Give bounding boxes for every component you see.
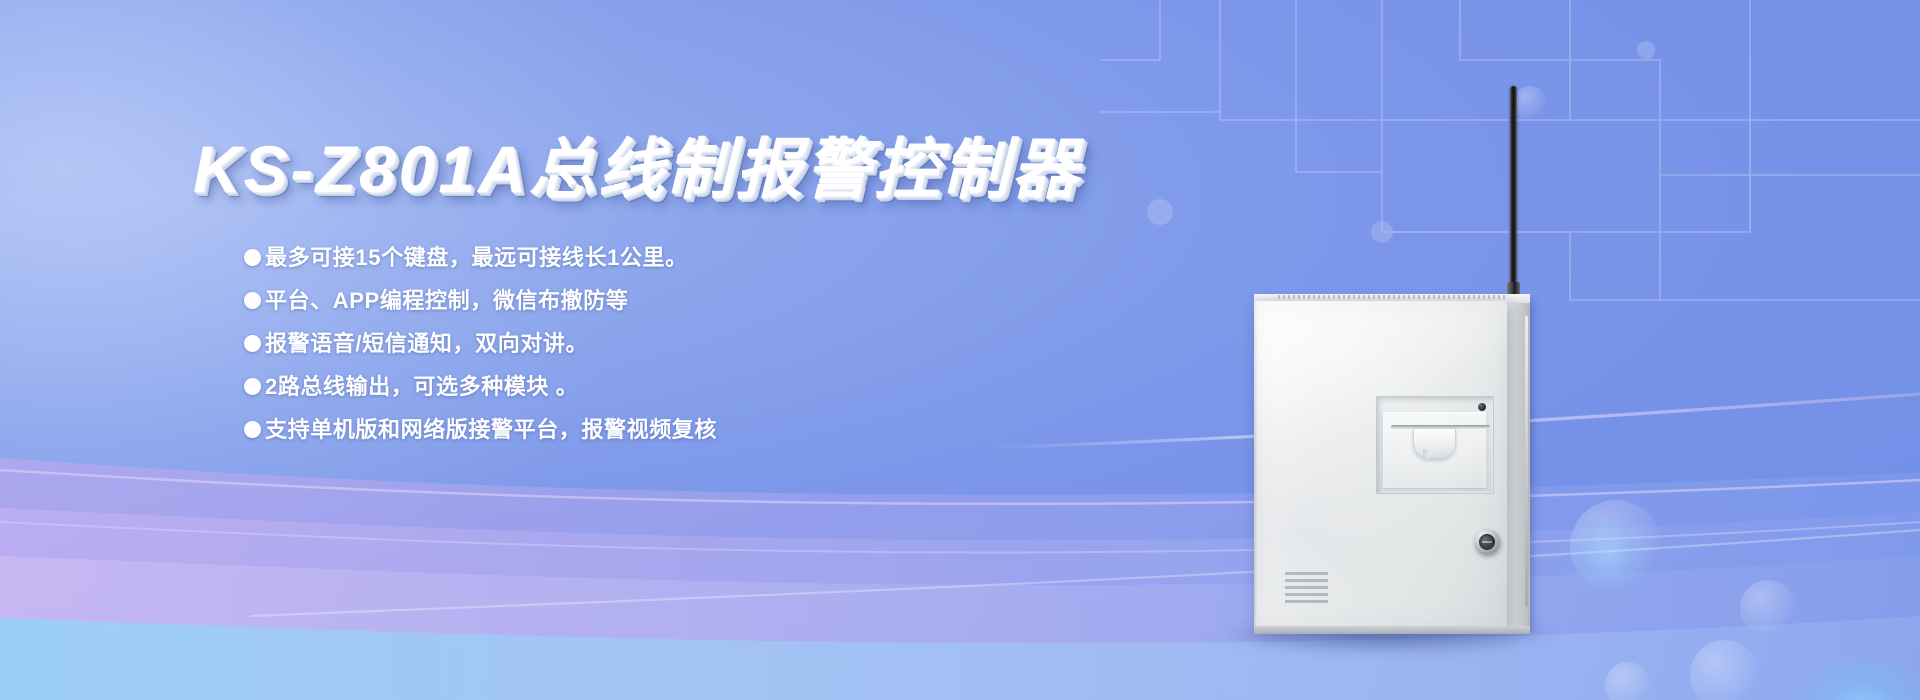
top-ventilation-slots	[1278, 295, 1508, 299]
antenna	[1510, 86, 1517, 308]
product-banner: KS-Z801A总线制报警控制器 最多可接15个键盘，最远可接线长1公里。 平台…	[0, 0, 1920, 700]
feature-text: 报警语音/短信通知，双向对讲。	[265, 322, 588, 365]
door-surface-sheen	[1254, 301, 1507, 630]
list-item: 平台、APP编程控制，微信布撤防等	[244, 279, 1064, 322]
list-item: 2路总线输出，可选多种模块 。	[244, 365, 1064, 408]
bullet-dot-icon	[244, 421, 261, 438]
bullet-dot-icon	[244, 249, 261, 266]
feature-list: 最多可接15个键盘，最远可接线长1公里。 平台、APP编程控制，微信布撤防等 报…	[244, 236, 1064, 451]
feature-text: 最多可接15个键盘，最远可接线长1公里。	[265, 236, 688, 279]
feature-text: 支持单机版和网络版接警平台，报警视频复核	[265, 408, 717, 451]
list-item: 支持单机版和网络版接警平台，报警视频复核	[244, 408, 1064, 451]
product-image	[1248, 86, 1668, 646]
feature-text: 2路总线输出，可选多种模块 。	[265, 365, 578, 408]
bullet-dot-icon	[244, 378, 261, 395]
enclosure-side-seam	[1525, 316, 1528, 606]
page-title: KS-Z801A总线制报警控制器	[193, 116, 1081, 212]
list-item: 最多可接15个键盘，最远可接线长1公里。	[244, 236, 1064, 279]
feature-text: 平台、APP编程控制，微信布撤防等	[265, 279, 628, 322]
bullet-dot-icon	[244, 335, 261, 352]
bullet-dot-icon	[244, 292, 261, 309]
list-item: 报警语音/短信通知，双向对讲。	[244, 322, 1064, 365]
